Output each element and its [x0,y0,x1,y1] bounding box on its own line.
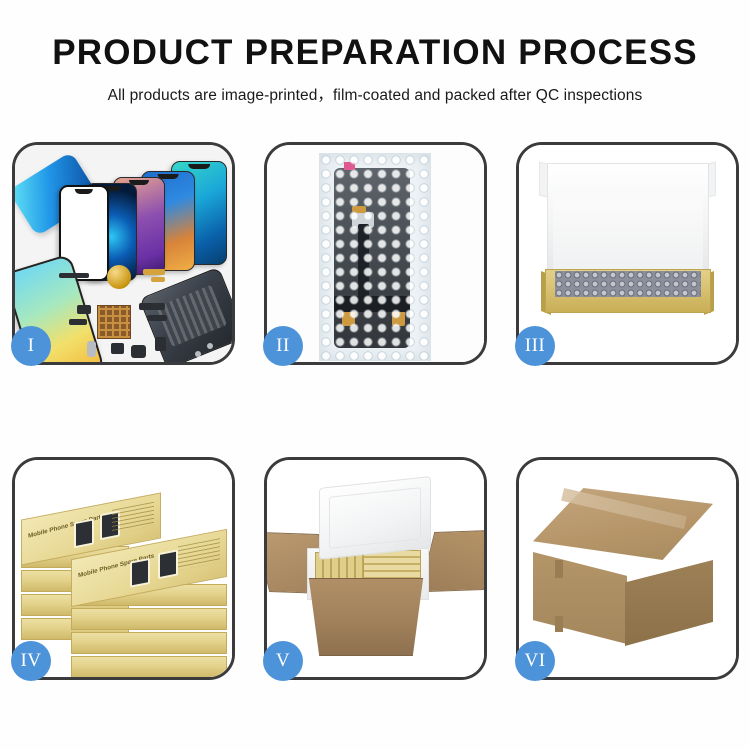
step-badge-4: IV [11,641,51,681]
flex-cable-part-4 [147,315,167,321]
header: PRODUCT PREPARATION PROCESS All products… [0,0,750,105]
box-phone-image-1 [74,518,94,548]
styrofoam-lid [319,476,431,560]
box-edge-r3 [71,632,227,654]
step-image-6 [519,460,736,677]
box-edge-r2 [71,608,227,630]
step-image-2 [267,145,484,362]
step-panel-4[interactable]: Mobile Phone Spare Parts Mobile Phone Sp… [12,457,235,680]
connector-part-2 [69,319,87,325]
step-panel-1[interactable]: I [12,142,235,365]
step-badge-5: V [263,641,303,681]
box-phone-image-3 [130,558,150,588]
phone-notch [75,189,93,194]
step-image-5 [267,460,484,677]
vibration-motor-part [111,343,124,354]
screw-part-2 [207,343,213,349]
retail-box-stack: Mobile Phone Spare Parts Mobile Phone Sp… [21,488,227,658]
connector-part-1 [77,305,91,314]
earpiece-mesh-part [59,273,89,278]
screw-tray-part [97,305,131,339]
box-phone-image-4 [158,549,178,579]
flex-cable-part-1 [143,269,165,275]
battery-connector-part [155,337,166,351]
flex-cable-part-2 [151,277,165,282]
step-badge-6: VI [515,641,555,681]
page-title: PRODUCT PREPARATION PROCESS [0,34,750,73]
step-image-1 [15,145,232,362]
step-image-3 [519,145,736,362]
carton-seam-upper [555,560,563,578]
pink-qc-sticker [344,162,355,170]
step-panel-3[interactable]: III [516,142,739,365]
phone-fan-group [53,159,232,269]
process-step-grid: I II [12,142,738,682]
step-panel-5[interactable]: V [264,457,487,680]
lcd-bottom-flex [334,296,410,312]
poster-root: PRODUCT PREPARATION PROCESS All products… [0,0,750,750]
bubble-wrap-bag [319,153,431,361]
speaker-module-part [107,265,131,289]
step-badge-2: II [263,326,303,366]
box-edge-r4 [71,656,227,677]
gold-connector-top [352,206,366,213]
taptic-engine-part [131,345,146,358]
step-image-4: Mobile Phone Spare Parts Mobile Phone Sp… [15,460,232,677]
phone-notch [188,164,210,169]
screw-part-1 [195,351,201,357]
white-foam-sheet [553,195,703,271]
page-subtitle: All products are image-printed，film-coat… [0,83,750,105]
step-panel-6[interactable]: VI [516,457,739,680]
step-badge-3: III [515,326,555,366]
step-badge-1: I [11,326,51,366]
flex-cable-part-3 [139,303,165,310]
camera-module-part [87,341,96,357]
carton-seam-lower [555,616,563,632]
step-panel-2[interactable]: II [264,142,487,365]
bubble-wrapped-contents [555,271,701,297]
box-spec-text-lines-2 [178,538,220,570]
carton-body-open [301,578,431,656]
box-spec-text-lines-1 [112,502,154,534]
